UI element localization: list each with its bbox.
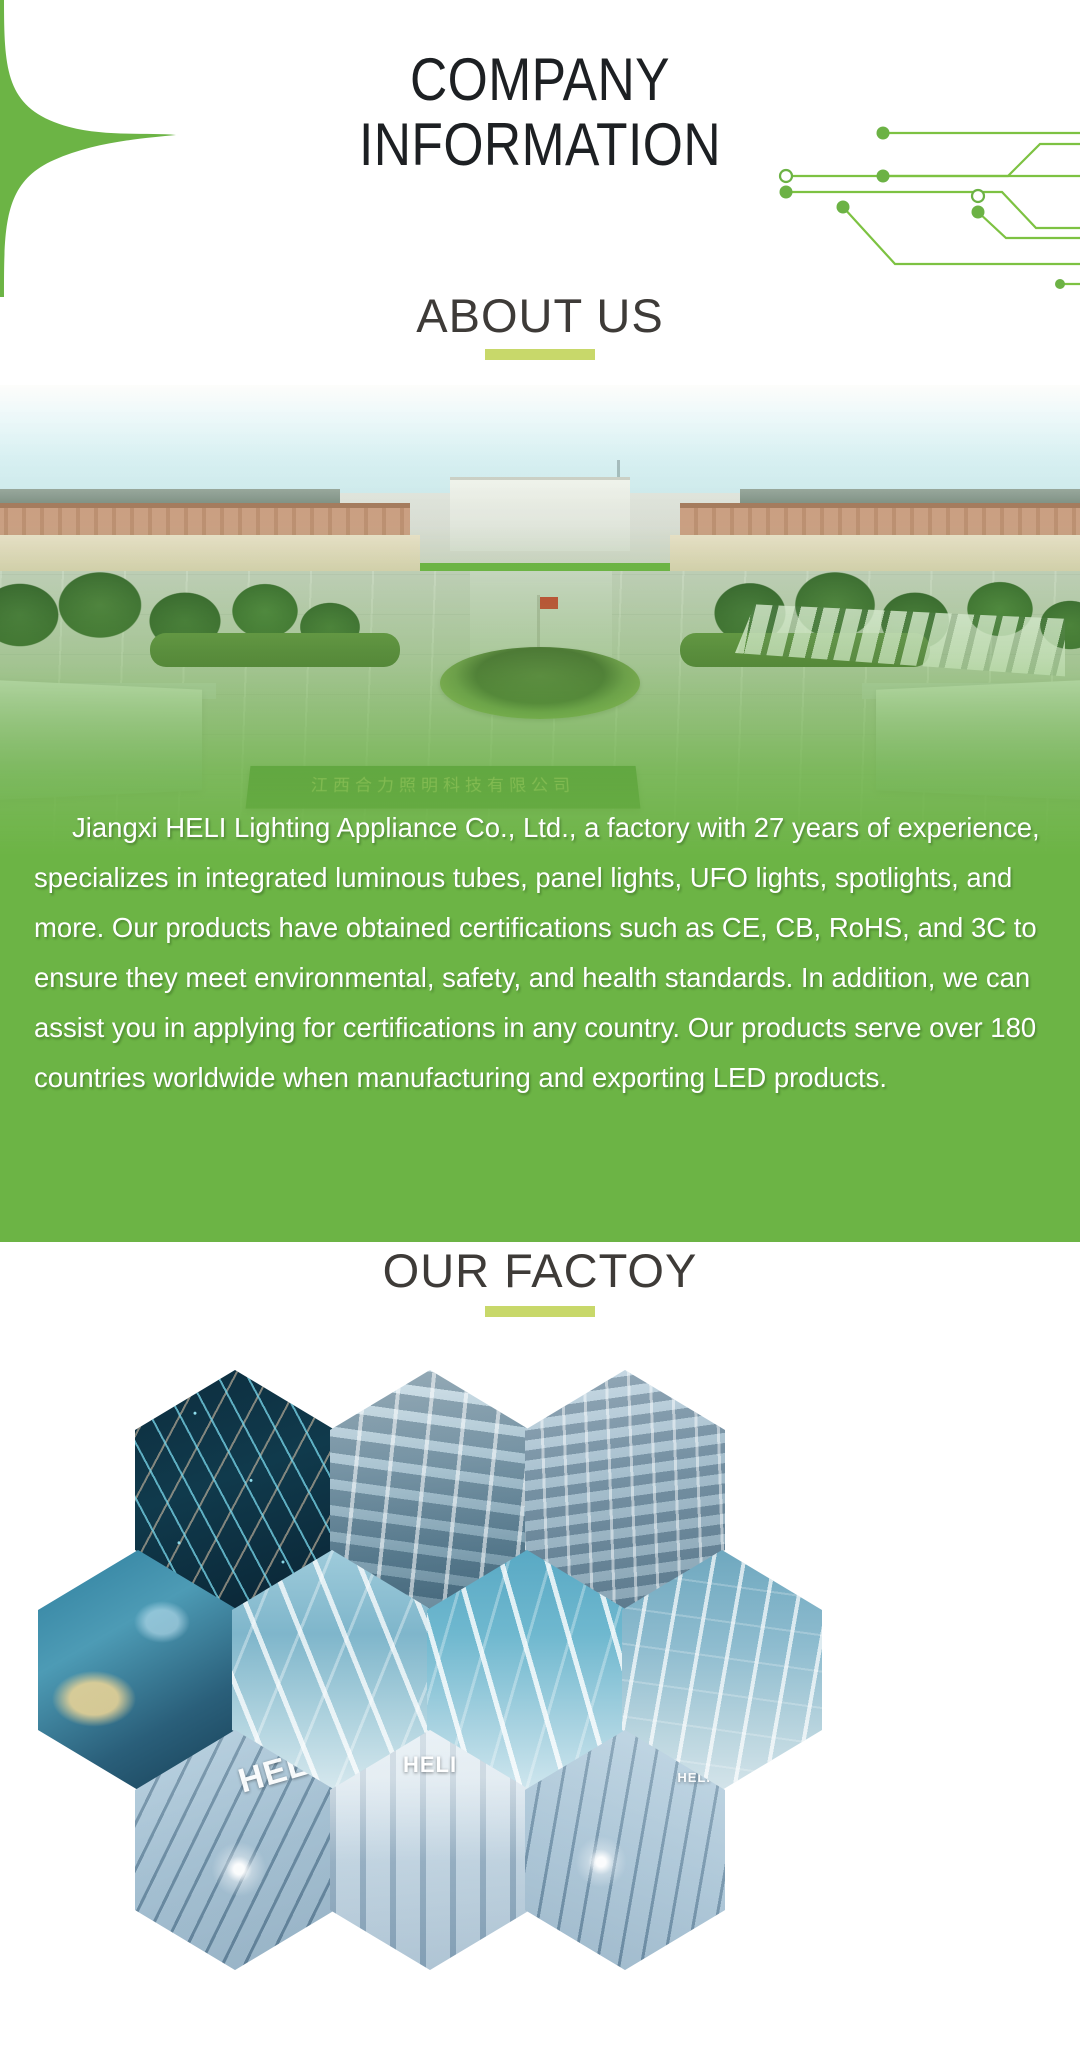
heli-logo-text: HELI xyxy=(403,1752,457,1778)
about-us-heading-wrap: ABOUT US xyxy=(0,288,1080,366)
about-us-heading: ABOUT US xyxy=(416,288,663,366)
photo-green-gradient-overlay xyxy=(0,385,1080,855)
our-factory-heading: OUR FACTOY xyxy=(383,1243,698,1317)
about-us-banner: 江西合力照明科技有限公司 Jiangxi HELI Lighting Appli… xyxy=(0,385,1080,1242)
page-title-line-1: COMPANY xyxy=(76,48,1005,113)
page-title: COMPANY INFORMATION xyxy=(0,48,1080,178)
about-us-paragraph: Jiangxi HELI Lighting Appliance Co., Ltd… xyxy=(34,803,1044,1103)
our-factory-heading-text: OUR FACTOY xyxy=(383,1244,698,1297)
about-us-heading-text: ABOUT US xyxy=(416,289,663,342)
our-factory-underline xyxy=(485,1306,595,1317)
hero-section: COMPANY INFORMATION ABOUT US xyxy=(0,0,1080,385)
company-information-page: COMPANY INFORMATION ABOUT US xyxy=(0,0,1080,2068)
factory-hexagon-gallery: HELI HELI HELI xyxy=(0,1370,1080,2060)
our-factory-section: OUR FACTOY xyxy=(0,1242,1080,2068)
our-factory-heading-wrap: OUR FACTOY xyxy=(0,1243,1080,1317)
factory-aerial-photo: 江西合力照明科技有限公司 xyxy=(0,385,1080,855)
photo-layer: 江西合力照明科技有限公司 xyxy=(0,385,1080,855)
about-us-underline xyxy=(485,349,595,360)
page-title-line-2: INFORMATION xyxy=(76,113,1005,178)
